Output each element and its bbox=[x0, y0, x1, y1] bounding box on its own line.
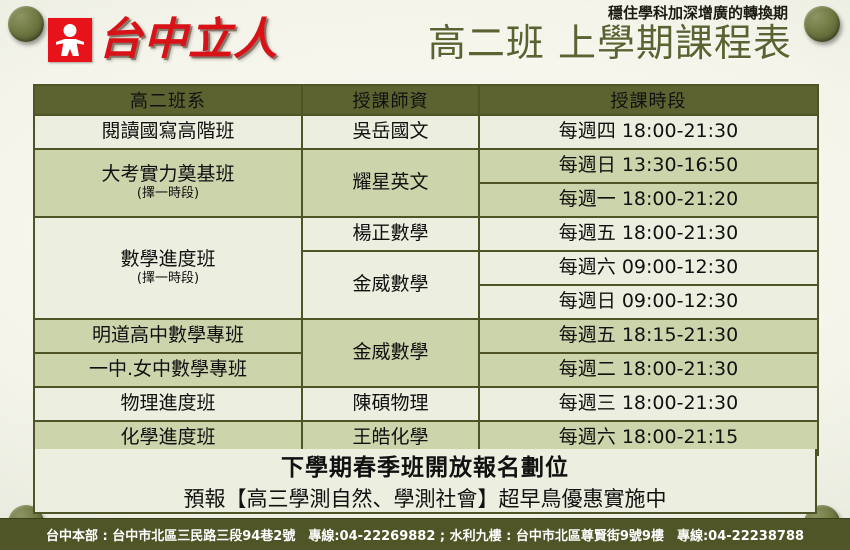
table-row: 數學進度班 (擇一時段) 楊正數學 每週五 18:00-21:30 bbox=[34, 217, 818, 251]
column-header-time: 授課時段 bbox=[479, 85, 818, 115]
cell-time: 每週四 18:00-21:30 bbox=[479, 115, 818, 149]
cell-time: 每週五 18:00-21:30 bbox=[479, 217, 818, 251]
cell-time: 每週二 18:00-21:30 bbox=[479, 353, 818, 387]
address-text: 台中本部 : 台中市北區三民路三段94巷2號 專線:04-22269882 ; … bbox=[46, 525, 804, 544]
table-row: 明道高中數學專班 金威數學 每週五 18:15-21:30 bbox=[34, 319, 818, 353]
column-header-course: 高二班系 bbox=[34, 85, 302, 115]
title-block: 穩住學科加深增廣的轉換期 高二班 上學期課程表 bbox=[428, 2, 792, 64]
cell-course: 閱讀國寫高階班 bbox=[34, 115, 302, 149]
brand-name: 台中立人 bbox=[98, 18, 278, 62]
cell-time: 每週五 18:15-21:30 bbox=[479, 319, 818, 353]
table-row: 物理進度班 陳碩物理 每週三 18:00-21:30 bbox=[34, 387, 818, 421]
poster-header: 台中立人 穩住學科加深增廣的轉換期 高二班 上學期課程表 bbox=[0, 0, 850, 84]
poster-background: 台中立人 穩住學科加深增廣的轉換期 高二班 上學期課程表 高二班系 授課師資 授… bbox=[0, 0, 850, 550]
cell-course: 一中.女中數學專班 bbox=[34, 353, 302, 387]
cell-time: 每週日 09:00-12:30 bbox=[479, 285, 818, 319]
person-figure-body bbox=[56, 39, 84, 56]
page-title: 高二班 上學期課程表 bbox=[428, 24, 792, 64]
schedule-table: 高二班系 授課師資 授課時段 閱讀國寫高階班 吳岳國文 每週四 18:00-21… bbox=[33, 84, 819, 456]
table-header-row: 高二班系 授課師資 授課時段 bbox=[34, 85, 818, 115]
promo-headline: 下學期春季班開放報名劃位 bbox=[281, 448, 569, 482]
cell-teacher: 吳岳國文 bbox=[302, 115, 479, 149]
cell-course-name: 大考實力奠基班 bbox=[101, 163, 234, 185]
cell-course-note: (擇一時段) bbox=[37, 272, 299, 287]
address-bar: 台中本部 : 台中市北區三民路三段94巷2號 專線:04-22269882 ; … bbox=[0, 518, 850, 550]
cell-teacher: 耀星英文 bbox=[302, 149, 479, 217]
promo-banner: 下學期春季班開放報名劃位 預報【高三學測自然、學測社會】超早鳥優惠實施中 bbox=[33, 449, 817, 514]
cell-course: 數學進度班 (擇一時段) bbox=[34, 217, 302, 319]
poster-subtitle: 穩住學科加深增廣的轉換期 bbox=[428, 2, 788, 23]
cell-course: 物理進度班 bbox=[34, 387, 302, 421]
cell-time: 每週日 13:30-16:50 bbox=[479, 149, 818, 183]
cell-teacher: 金威數學 bbox=[302, 251, 479, 319]
cell-course-name: 數學進度班 bbox=[120, 248, 215, 270]
cell-teacher: 陳碩物理 bbox=[302, 387, 479, 421]
cell-course-note: (擇一時段) bbox=[37, 187, 299, 202]
cell-teacher: 金威數學 bbox=[302, 319, 479, 387]
person-figure-icon bbox=[48, 18, 92, 62]
table-body: 閱讀國寫高階班 吳岳國文 每週四 18:00-21:30 大考實力奠基班 (擇一… bbox=[34, 115, 818, 455]
cell-time: 每週三 18:00-21:30 bbox=[479, 387, 818, 421]
promo-subline: 預報【高三學測自然、學測社會】超早鳥優惠實施中 bbox=[184, 483, 667, 513]
table-row: 大考實力奠基班 (擇一時段) 耀星英文 每週日 13:30-16:50 bbox=[34, 149, 818, 183]
table-row: 閱讀國寫高階班 吳岳國文 每週四 18:00-21:30 bbox=[34, 115, 818, 149]
cell-course: 大考實力奠基班 (擇一時段) bbox=[34, 149, 302, 217]
table-head: 高二班系 授課師資 授課時段 bbox=[34, 85, 818, 115]
cell-time: 每週六 09:00-12:30 bbox=[479, 251, 818, 285]
cell-teacher: 楊正數學 bbox=[302, 217, 479, 251]
cell-course: 明道高中數學專班 bbox=[34, 319, 302, 353]
cell-time: 每週一 18:00-21:20 bbox=[479, 183, 818, 217]
schedule-table-wrapper: 高二班系 授課師資 授課時段 閱讀國寫高階班 吳岳國文 每週四 18:00-21… bbox=[33, 84, 817, 456]
column-header-teacher: 授課師資 bbox=[302, 85, 479, 115]
brand-logo: 台中立人 bbox=[48, 18, 278, 62]
person-figure-head bbox=[64, 24, 77, 37]
